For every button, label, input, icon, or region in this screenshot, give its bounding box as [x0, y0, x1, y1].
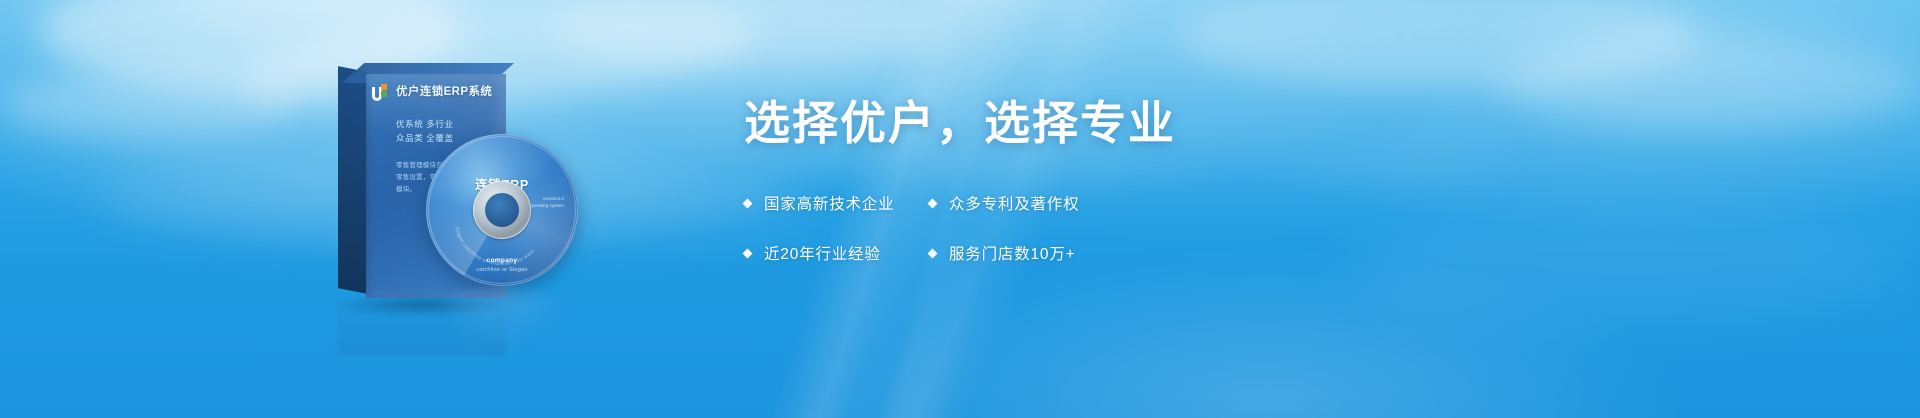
disc-company-label: company: [426, 257, 578, 264]
cloud-decoration: [1500, 40, 1920, 130]
product-artwork: 优户连锁ERP系统 优系统 多行业 众品类 全覆盖 零售管理模块包括零售管理、零…: [338, 58, 598, 348]
disc-slogan-label: catchline or Slogan: [426, 267, 578, 273]
banner-copy: 选择优户，选择专业 国家高新技术企业 众多专利及著作权 近20年行业经验 服务门…: [744, 96, 1504, 292]
disc-version-line-2: operating system: [529, 203, 564, 210]
feature-item-3: 服务门店数10万+: [929, 242, 1114, 264]
box-title: 优户连锁ERP系统: [396, 83, 492, 99]
feature-label: 国家高新技术企业: [764, 192, 894, 214]
diamond-bullet-icon: [743, 198, 753, 208]
feature-label: 近20年行业经验: [764, 242, 881, 264]
feature-item-0: 国家高新技术企业: [744, 192, 929, 214]
disc-version-block: version2.0 operating system: [529, 196, 564, 210]
disc-center-hole: [495, 203, 510, 218]
feature-item-2: 近20年行业经验: [744, 242, 929, 264]
page-title: 选择优户，选择专业: [744, 96, 1504, 150]
cloud-decoration: [560, 0, 940, 70]
cd-disc: 连锁ERP slogan catchline or whatever you w…: [426, 134, 578, 286]
diamond-bullet-icon: [743, 248, 753, 258]
box-subtitle-line-1: 优系统 多行业: [396, 118, 454, 130]
logo-green-square: [381, 91, 387, 97]
logo-orange-square: [381, 84, 387, 90]
feature-item-1: 众多专利及著作权: [929, 192, 1114, 214]
disc-reflection: [426, 286, 578, 356]
diamond-bullet-icon: [928, 198, 938, 208]
hero-banner: 优户连锁ERP系统 优系统 多行业 众品类 全覆盖 零售管理模块包括零售管理、零…: [0, 0, 1920, 418]
cloud-decoration: [0, 70, 300, 140]
feature-label: 服务门店数10万+: [949, 242, 1076, 264]
diamond-bullet-icon: [928, 248, 938, 258]
feature-list: 国家高新技术企业 众多专利及著作权 近20年行业经验 服务门店数10万+: [744, 192, 1114, 292]
logo-u-shape: [372, 87, 382, 101]
box-side-panel: [338, 66, 368, 294]
feature-label: 众多专利及著作权: [949, 192, 1079, 214]
cloud-decoration: [1180, 0, 1700, 90]
box-subtitle-line-2: 众品类 全覆盖: [396, 132, 454, 144]
youhu-u-logo-icon: [372, 84, 390, 102]
disc-hub-ring: [473, 181, 531, 239]
disc-version-line-1: version2.0: [529, 196, 564, 203]
